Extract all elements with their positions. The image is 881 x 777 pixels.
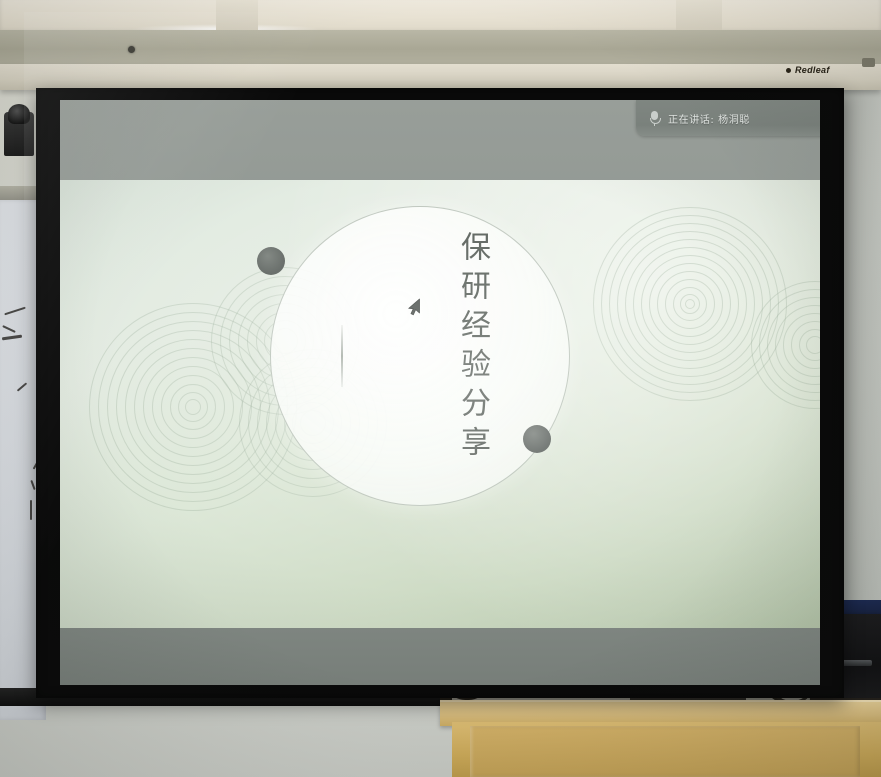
presentation-slide: 保研经验分享	[60, 180, 820, 628]
valance-screw	[128, 46, 135, 53]
brand-plate: Redleaf	[786, 62, 864, 78]
bullet-dot-icon	[786, 68, 791, 73]
speaker-status-label: 正在讲话: 杨洞聪	[668, 111, 750, 126]
projection-screen-frame: 正在讲话: 杨洞聪	[36, 88, 844, 698]
ceiling-camera-lens-icon	[8, 104, 30, 124]
vertical-divider	[341, 325, 343, 387]
valance-lip	[0, 64, 881, 90]
microphone-icon	[650, 111, 659, 126]
mouse-pointer-icon	[407, 298, 421, 316]
title-circle: 保研经验分享	[270, 206, 570, 506]
slide-title: 保研经验分享	[431, 231, 495, 465]
projected-letterbox-bottom	[60, 628, 820, 685]
lectern-panel	[470, 726, 860, 777]
projection-screen-surface[interactable]: 正在讲话: 杨洞聪	[60, 100, 820, 685]
accent-dot-top-left	[257, 247, 285, 275]
meeting-speaker-toolbar[interactable]: 正在讲话: 杨洞聪	[636, 100, 820, 136]
accent-dot-bottom-right	[523, 425, 551, 453]
screenshot-stage: Redleaf 正在讲话: 杨洞聪	[0, 0, 881, 777]
brand-label: Redleaf	[795, 65, 830, 75]
